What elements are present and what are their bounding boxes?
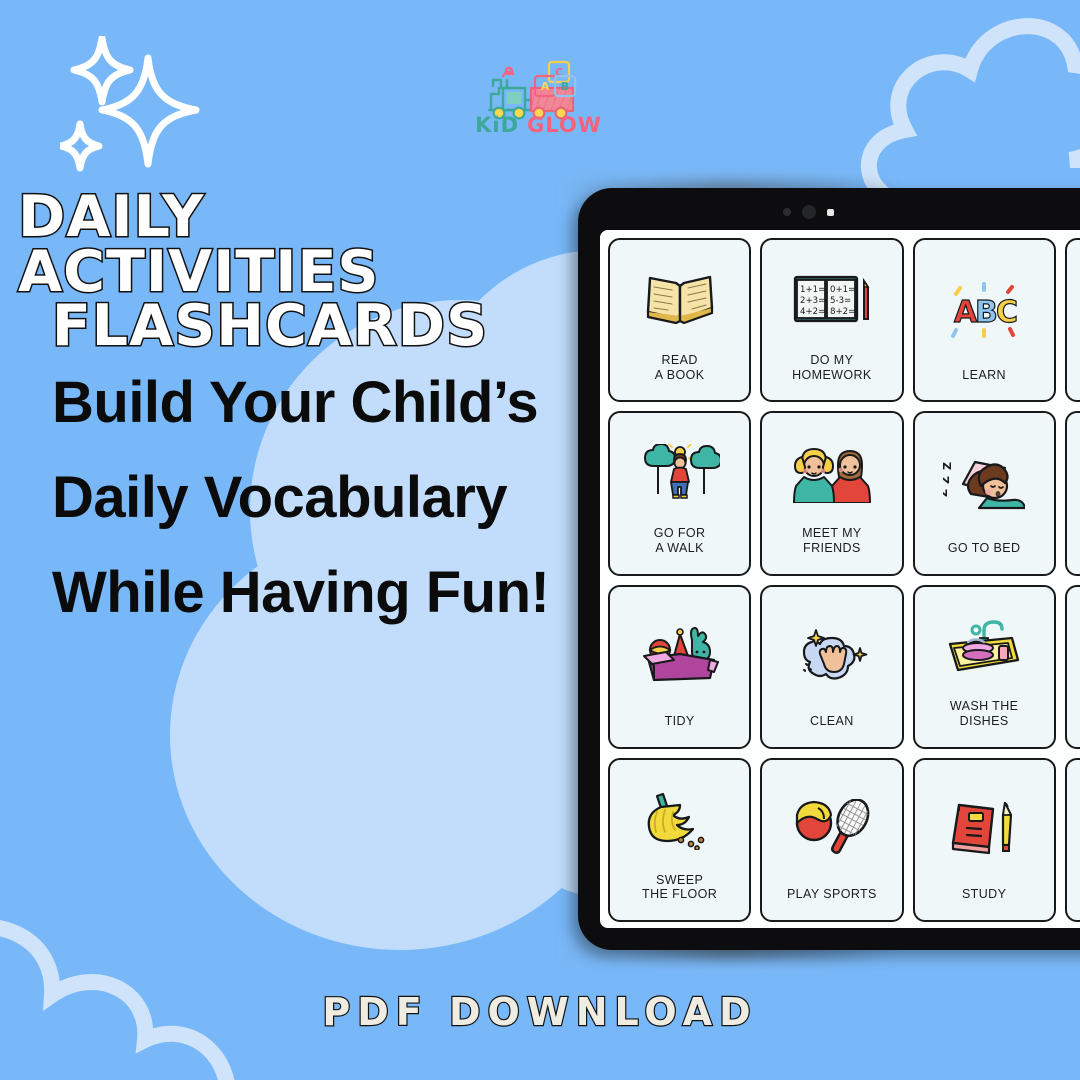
pdf-download-label: PDF DOWNLOAD xyxy=(0,990,1080,1034)
subheadline: Build Your Child’s Daily Vocabulary Whil… xyxy=(52,355,572,640)
flashcard-go-to-school[interactable]: GO TO SCHOOL xyxy=(1065,758,1080,922)
card-art xyxy=(766,596,897,715)
sparkle-small-icon xyxy=(61,124,99,168)
card-art: 1+1= 2+3= 4+2= 0+1= 5-3= 8+2= xyxy=(766,249,897,353)
flashcard-walk-my-dog[interactable]: WALK MY DOG xyxy=(1065,238,1080,402)
title-line-2: FLASHCARDS xyxy=(18,299,578,354)
cloud-outline-bottom-left xyxy=(0,870,260,1080)
child-walking-icon xyxy=(640,444,720,504)
math-notebook-icon: 1+1= 2+3= 4+2= 0+1= 5-3= 8+2= xyxy=(791,273,873,329)
broom-icon xyxy=(641,792,719,850)
math-line: 4+2= xyxy=(800,307,825,317)
flashcard-go-to-bed[interactable]: Z Z Z xyxy=(913,411,1056,575)
sparkles-decoration xyxy=(60,36,230,186)
tablet-device: READ A BOOK 1+1= 2+3= 4+2= xyxy=(578,188,1080,950)
tree-left-icon xyxy=(645,444,675,494)
card-label: STUDY xyxy=(962,887,1006,912)
logo-word-glow: GLOW xyxy=(527,113,602,136)
math-line: 8+2= xyxy=(830,307,855,317)
camera-flash-icon xyxy=(827,209,834,216)
child-figure xyxy=(671,454,689,498)
card-label: PLAY SPORTS xyxy=(787,887,877,912)
card-label: WASH THE DISHES xyxy=(950,699,1018,739)
math-line: 0+1= xyxy=(830,285,855,295)
brand-logo: C A B KiD GLOW xyxy=(468,58,628,158)
block-letter-b: B xyxy=(561,80,569,93)
math-line: 5-3= xyxy=(830,296,851,306)
pencil-icon xyxy=(1003,803,1011,851)
card-label: CLEAN xyxy=(810,714,854,739)
tablet-screen: READ A BOOK 1+1= 2+3= 4+2= xyxy=(600,230,1080,928)
card-label: SWEEP THE FLOOR xyxy=(642,873,717,913)
svg-text:Z: Z xyxy=(943,476,952,484)
tree-right-icon xyxy=(691,446,720,494)
card-label: GO TO BED xyxy=(948,541,1021,566)
train-blocks-logo-icon: C A B KiD GLOW xyxy=(473,58,623,136)
flashcard-sweep-the-floor[interactable]: SWEEP THE FLOOR xyxy=(608,758,751,922)
abc-letters-icon: A B C xyxy=(946,278,1022,338)
flashcard-meet-my-friends[interactable]: MEET MY FRIENDS xyxy=(760,411,903,575)
card-art xyxy=(614,249,745,353)
card-art xyxy=(766,769,897,888)
flashcard-read-a-book[interactable]: READ A BOOK xyxy=(608,238,751,402)
card-label: READ A BOOK xyxy=(655,353,705,393)
card-label: GO FOR A WALK xyxy=(654,526,706,566)
tablet-camera-cluster xyxy=(783,205,834,219)
card-art xyxy=(1071,769,1080,873)
flashcard-wash-the-dishes[interactable]: WASH THE DISHES xyxy=(913,585,1056,749)
flashcard-grid: READ A BOOK 1+1= 2+3= 4+2= xyxy=(608,238,1080,922)
svg-text:Z: Z xyxy=(943,462,954,470)
zzz-icon: Z Z Z xyxy=(943,462,954,497)
math-line: 1+1= xyxy=(800,285,825,295)
block-letter-a: A xyxy=(541,80,550,93)
camera-sensor-icon xyxy=(783,208,791,216)
book-pencil-icon xyxy=(947,799,1021,857)
card-label: MEET MY FRIENDS xyxy=(802,526,862,566)
flashcard-tidy[interactable]: TIDY xyxy=(608,585,751,749)
friend-left xyxy=(794,449,834,503)
card-art xyxy=(766,422,897,526)
friend-right xyxy=(830,451,870,503)
sleeping-child-icon: Z Z Z xyxy=(943,454,1025,510)
svg-text:Z: Z xyxy=(943,489,950,497)
card-art xyxy=(919,596,1050,700)
cloud-outline-top-right xyxy=(850,0,1080,210)
math-line: 2+3= xyxy=(800,296,825,306)
flashcard-play-sports[interactable]: PLAY SPORTS xyxy=(760,758,903,922)
flashcard-sheet: READ A BOOK 1+1= 2+3= 4+2= xyxy=(600,230,1080,928)
camera-lens-icon xyxy=(802,205,816,219)
flashcard-study[interactable]: STUDY xyxy=(913,758,1056,922)
toy-box-icon xyxy=(640,626,720,684)
open-book-icon xyxy=(642,272,718,330)
flashcard-go-for-a-walk[interactable]: GO FOR A WALK xyxy=(608,411,751,575)
flashcard-eat[interactable]: EAT xyxy=(1065,411,1080,575)
flashcard-clean[interactable]: CLEAN xyxy=(760,585,903,749)
card-art xyxy=(614,596,745,715)
flashcard-do-my-homework[interactable]: 1+1= 2+3= 4+2= 0+1= 5-3= 8+2= xyxy=(760,238,903,402)
title-line-1: DAILY ACTIVITIES xyxy=(18,184,379,305)
flashcard-learn[interactable]: A B C xyxy=(913,238,1056,402)
cleaning-hand-icon xyxy=(792,626,872,684)
card-art xyxy=(1071,596,1080,700)
pencil-icon xyxy=(864,281,868,319)
card-art xyxy=(614,422,745,526)
card-art: A B C xyxy=(919,249,1050,368)
kitchen-sink-icon xyxy=(944,618,1024,676)
ball-racket-icon xyxy=(792,799,872,857)
card-art xyxy=(614,769,745,873)
card-art: Z Z Z xyxy=(919,422,1050,541)
page-title: DAILY ACTIVITIES FLASHCARDS xyxy=(18,190,578,354)
svg-text:C: C xyxy=(996,295,1018,330)
card-label: DO MY HOMEWORK xyxy=(792,353,872,393)
sparkle-medium-icon xyxy=(74,38,130,102)
card-art xyxy=(919,769,1050,888)
card-art xyxy=(1071,249,1080,353)
flashcard-do-the-laundry[interactable]: DO THE LAUNDRY xyxy=(1065,585,1080,749)
card-label: LEARN xyxy=(962,368,1006,393)
card-art xyxy=(1071,422,1080,541)
svg-text:B: B xyxy=(975,295,998,330)
two-friends-icon xyxy=(792,445,872,503)
logo-word-kid: KiD xyxy=(475,113,519,136)
card-label: TIDY xyxy=(665,714,695,739)
